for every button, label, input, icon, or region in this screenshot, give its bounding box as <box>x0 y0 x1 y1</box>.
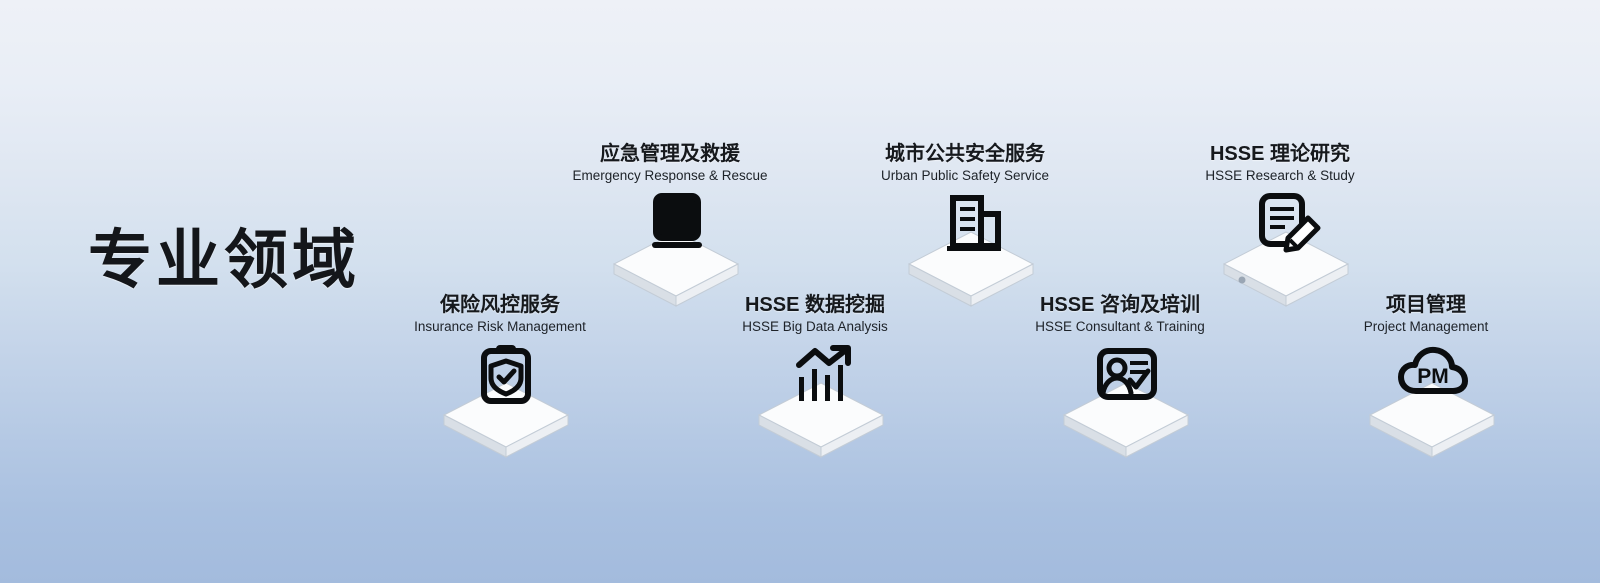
category-emergency-response[interactable]: 应急管理及救援 Emergency Response & Rescue <box>510 144 830 312</box>
medical-cross-stretcher-icon <box>640 192 714 266</box>
category-title-zh: HSSE 咨询及培训 <box>960 295 1280 316</box>
person-card-check-icon <box>1090 343 1164 417</box>
category-urban-public-safety[interactable]: 城市公共安全服务 Urban Public Safety Service <box>805 144 1125 312</box>
pm-label: PM <box>1417 365 1449 388</box>
category-icon-tile <box>960 343 1280 463</box>
category-project-management[interactable]: 项目管理 Project Management PM <box>1266 295 1586 463</box>
category-title-zh: HSSE 理论研究 <box>1120 144 1440 165</box>
category-hsse-research[interactable]: HSSE 理论研究 HSSE Research & Study <box>1120 144 1440 312</box>
category-icon-tile: PM <box>1266 343 1586 463</box>
category-insurance-risk[interactable]: 保险风控服务 Insurance Risk Management <box>340 295 660 463</box>
category-title-en: Project Management <box>1266 320 1586 335</box>
city-buildings-icon <box>935 192 1009 266</box>
category-hsse-consultant[interactable]: HSSE 咨询及培训 HSSE Consultant & Training <box>960 295 1280 463</box>
category-title-zh: 城市公共安全服务 <box>805 144 1125 165</box>
category-icon-tile <box>340 343 660 463</box>
cloud-pm-icon: PM <box>1396 343 1470 417</box>
category-title-zh: 项目管理 <box>1266 295 1586 316</box>
category-hsse-big-data[interactable]: HSSE 数据挖掘 HSSE Big Data Analysis <box>655 295 975 463</box>
category-title-zh: HSSE 数据挖掘 <box>655 295 975 316</box>
category-title-en: HSSE Big Data Analysis <box>655 320 975 335</box>
category-title-en: HSSE Research & Study <box>1120 169 1440 184</box>
infographic-stage: 专业领域 应急管理及救援 Emergency Response & Rescue <box>0 0 1600 583</box>
document-pencil-icon <box>1250 192 1324 266</box>
category-title-en: Emergency Response & Rescue <box>510 169 830 184</box>
category-title-zh: 保险风控服务 <box>340 295 660 316</box>
category-title-en: Insurance Risk Management <box>340 320 660 335</box>
clipboard-shield-check-icon <box>470 343 544 417</box>
category-title-en: HSSE Consultant & Training <box>960 320 1280 335</box>
category-title-zh: 应急管理及救援 <box>510 144 830 165</box>
category-title-en: Urban Public Safety Service <box>805 169 1125 184</box>
page-title: 专业领域 <box>88 228 360 292</box>
bar-chart-trend-up-icon <box>785 343 859 417</box>
category-icon-tile <box>655 343 975 463</box>
